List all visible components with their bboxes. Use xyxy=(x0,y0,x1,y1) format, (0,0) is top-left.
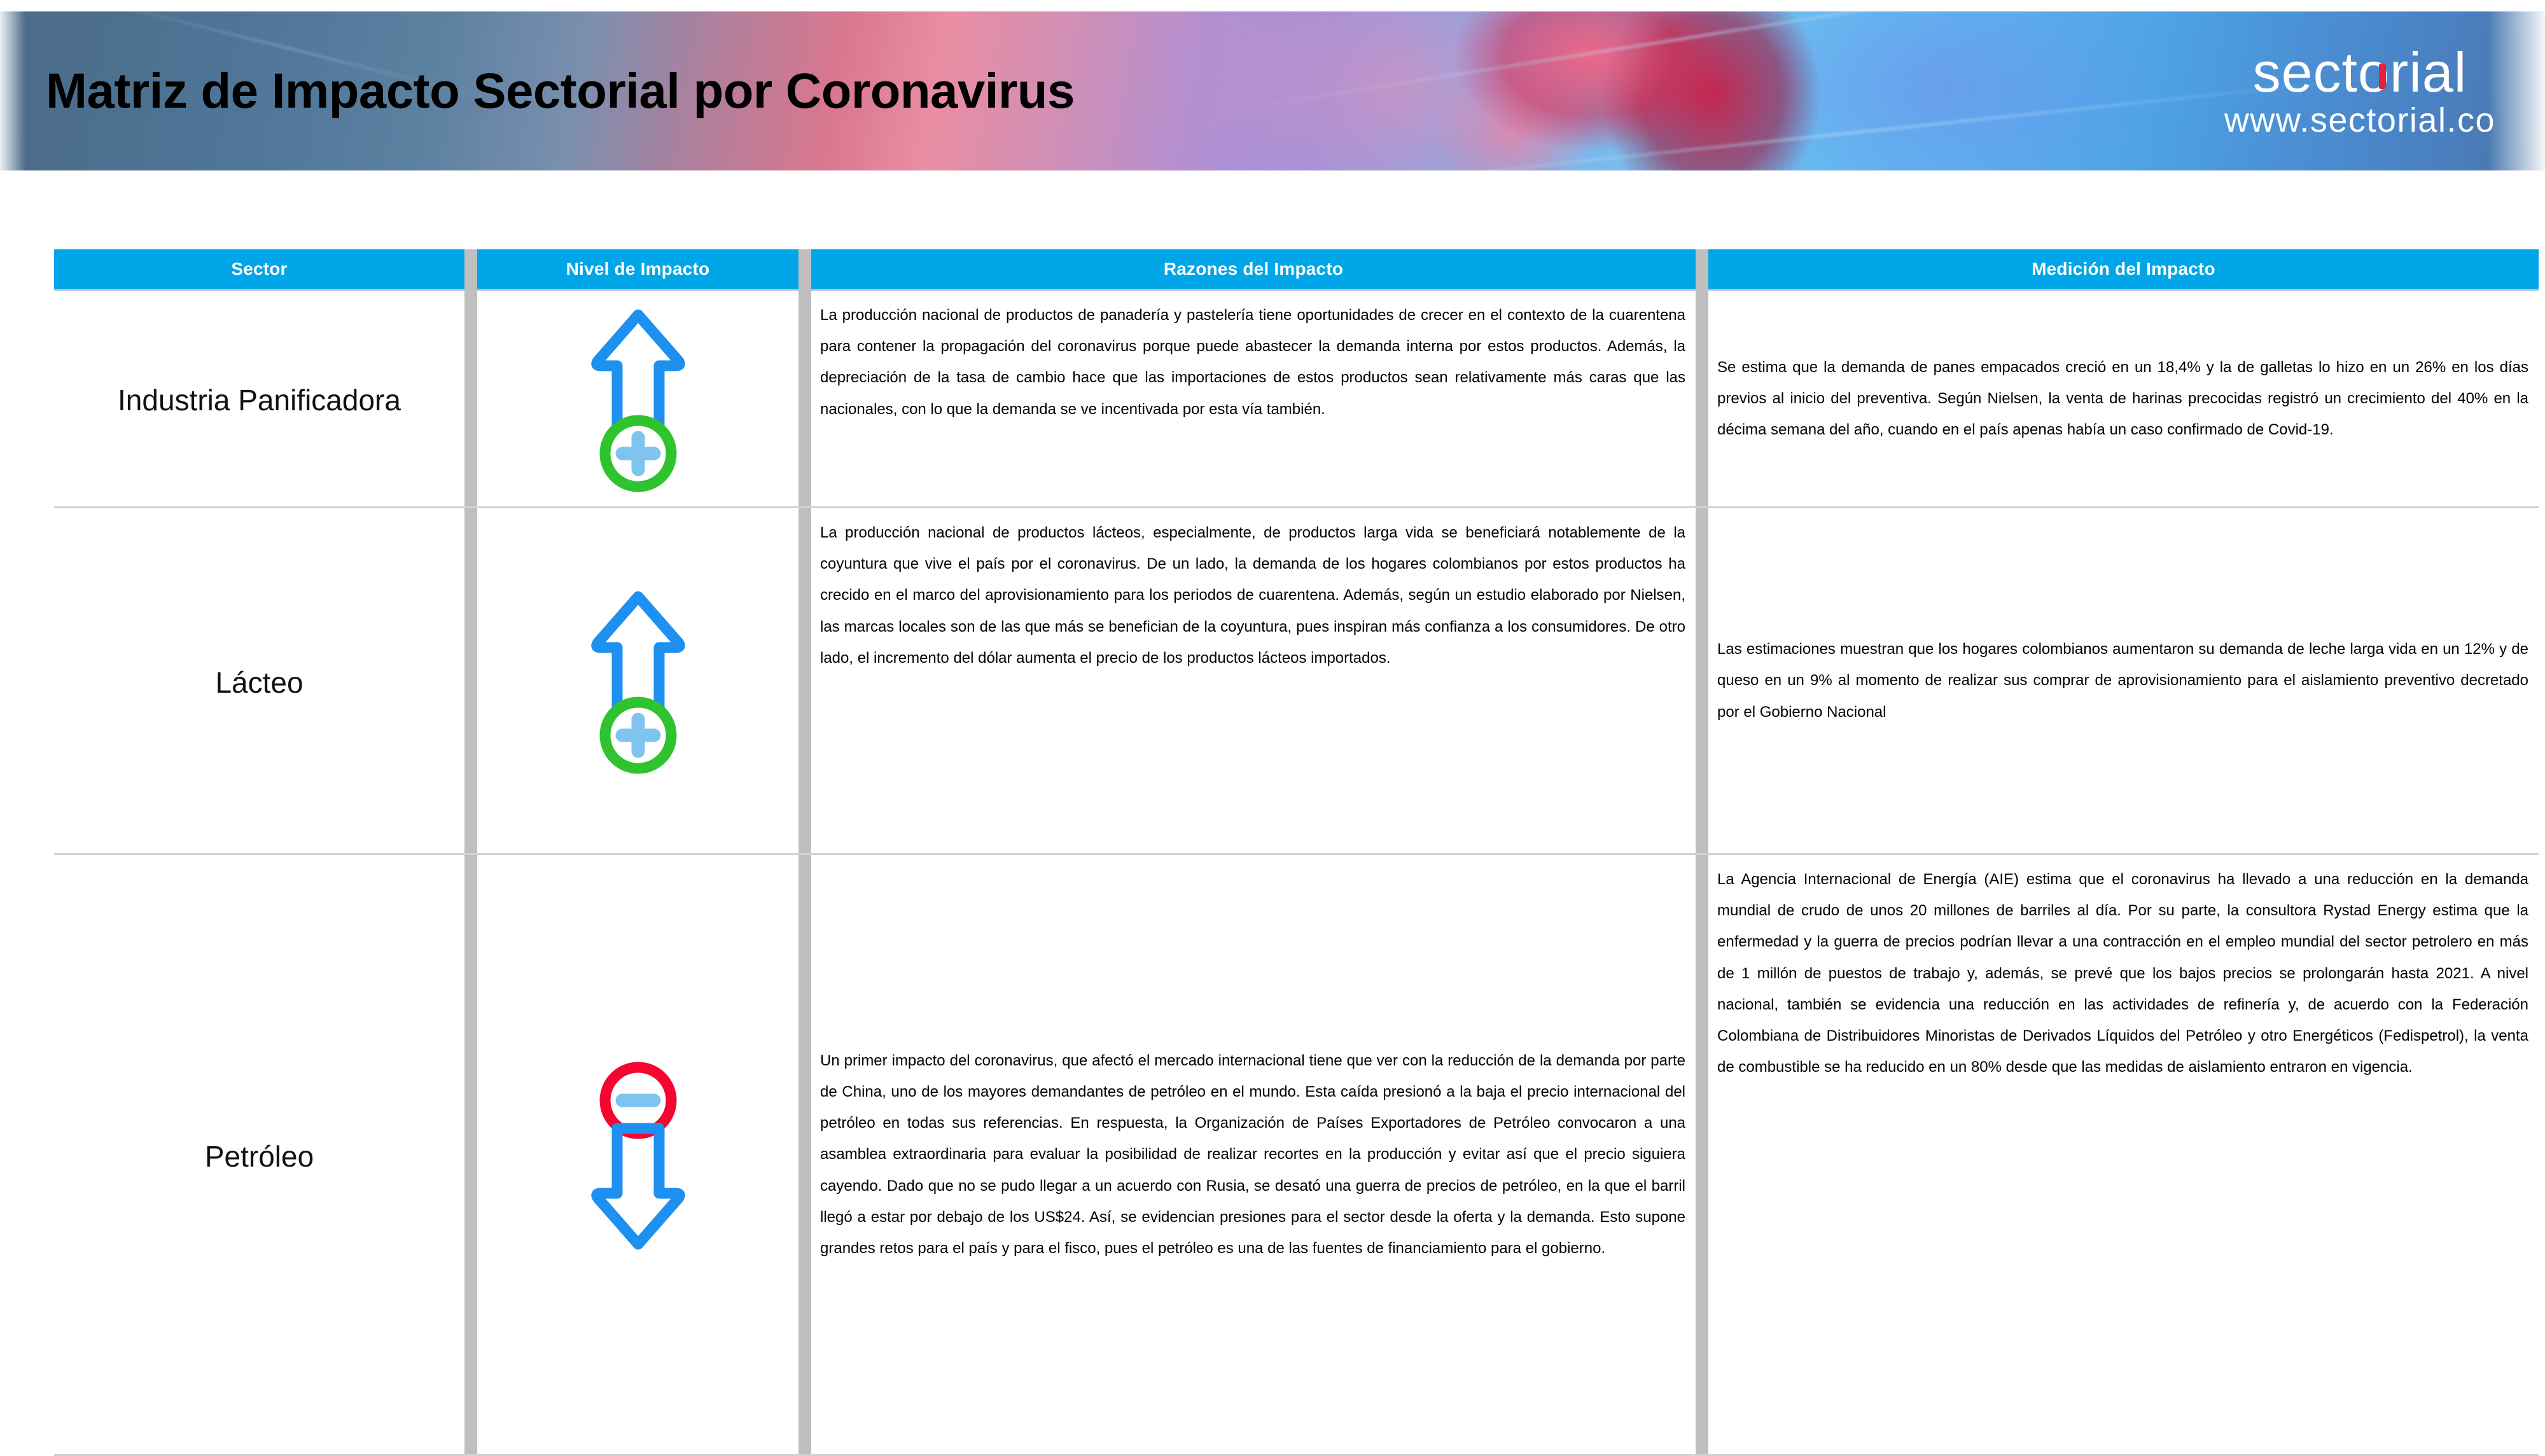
cell-sector-name: Lácteo xyxy=(54,508,464,853)
cell-razones-text: La producción nacional de productos láct… xyxy=(811,508,1696,853)
arrow-up-plus-icon xyxy=(590,590,686,775)
column-separator xyxy=(798,855,811,1454)
column-separator xyxy=(798,249,811,289)
table-header-row: Sector Nivel de Impacto Razones del Impa… xyxy=(54,249,2539,289)
column-separator xyxy=(464,508,477,853)
cell-impact-level xyxy=(477,508,798,853)
cell-medicion-text: La Agencia Internacional de Energía (AIE… xyxy=(1708,855,2539,1454)
cell-sector-name: Petróleo xyxy=(54,855,464,1454)
cell-medicion-value: Se estima que la demanda de panes empaca… xyxy=(1717,352,2528,446)
banner-right-fade xyxy=(2488,11,2545,170)
cell-razones-text: Un primer impacto del coronavirus, que a… xyxy=(811,855,1696,1454)
column-separator xyxy=(1696,291,1708,506)
column-header-nivel-de-impacto: Nivel de Impacto xyxy=(477,249,798,289)
cell-sector-name: Industria Panificadora xyxy=(54,291,464,506)
logo-wordmark-text: sectorial xyxy=(2253,41,2467,104)
sectorial-logo: sectorial www.sectorial.co xyxy=(2224,45,2495,137)
column-header-medicion-del-impacto: Medición del Impacto xyxy=(1708,249,2539,289)
column-separator xyxy=(1696,508,1708,853)
logo-url: www.sectorial.co xyxy=(2224,103,2495,137)
cell-medicion-text: Se estima que la demanda de panes empaca… xyxy=(1708,291,2539,506)
column-separator xyxy=(464,291,477,506)
cell-impact-level xyxy=(477,291,798,506)
column-separator xyxy=(1696,855,1708,1454)
column-separator xyxy=(464,249,477,289)
header-banner: Matriz de Impacto Sectorial por Coronavi… xyxy=(0,11,2545,170)
cell-impact-level xyxy=(477,855,798,1454)
table-row: Petróleo Un primer impacto del coronavir… xyxy=(54,855,2539,1456)
column-separator xyxy=(798,291,811,506)
arrow-up-plus-icon xyxy=(590,309,686,493)
logo-accent-mark xyxy=(2379,64,2386,89)
arrow-down-minus-icon xyxy=(590,1061,686,1252)
column-separator xyxy=(464,855,477,1454)
column-separator xyxy=(798,508,811,853)
column-header-razones-del-impacto: Razones del Impacto xyxy=(811,249,1696,289)
banner-left-fade xyxy=(0,11,25,170)
table-row: Lácteo La producción nacional de product… xyxy=(54,508,2539,855)
cell-razones-value: Un primer impacto del coronavirus, que a… xyxy=(820,1045,1685,1264)
table-row: Industria Panificadora La producción nac… xyxy=(54,289,2539,508)
column-separator xyxy=(1696,249,1708,289)
logo-wordmark: sectorial xyxy=(2224,45,2495,101)
cell-medicion-text: Las estimaciones muestran que los hogare… xyxy=(1708,508,2539,853)
cell-medicion-value: Las estimaciones muestran que los hogare… xyxy=(1717,634,2528,728)
impact-matrix-table: Sector Nivel de Impacto Razones del Impa… xyxy=(54,249,2539,1456)
column-header-sector: Sector xyxy=(54,249,464,289)
cell-razones-text: La producción nacional de productos de p… xyxy=(811,291,1696,506)
page-title: Matriz de Impacto Sectorial por Coronavi… xyxy=(46,62,1075,120)
